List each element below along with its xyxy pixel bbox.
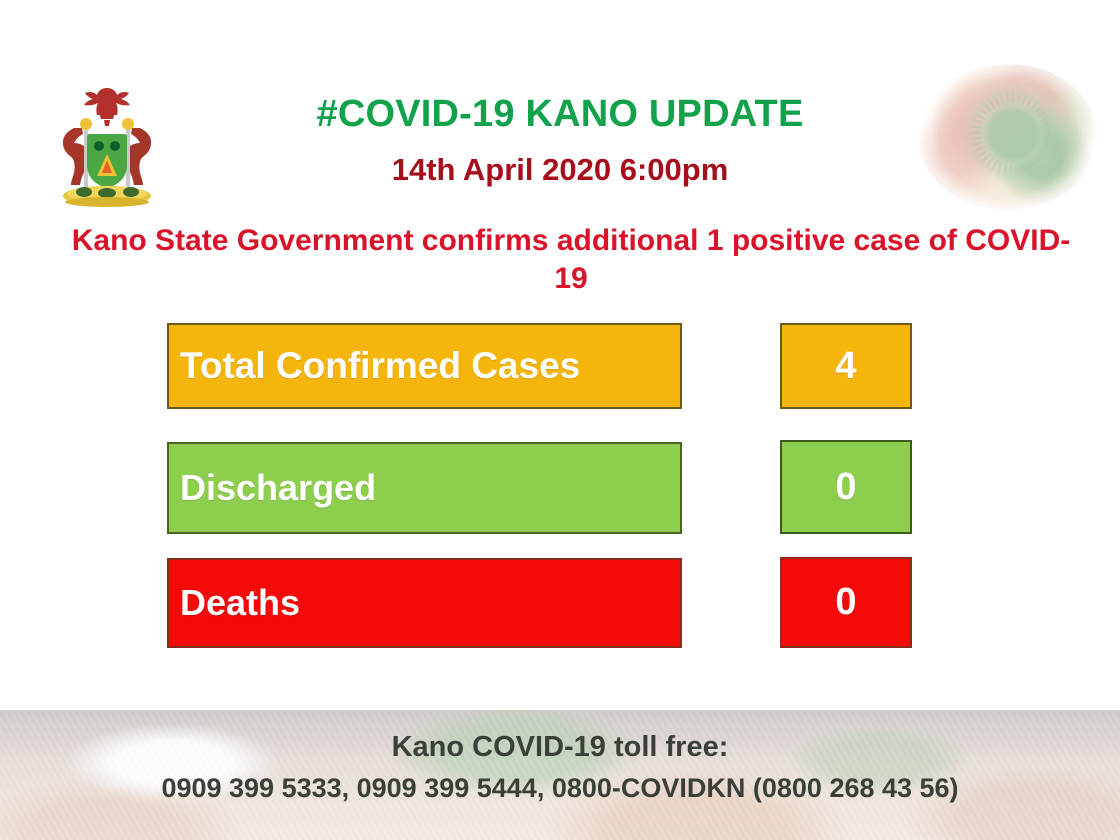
stat-row-discharged: Discharged 0: [0, 437, 1120, 527]
stat-value-discharged: 0: [835, 466, 856, 509]
stat-row-deaths: Deaths 0: [0, 554, 1120, 644]
stat-value-total-confirmed-cases: 4: [835, 345, 856, 388]
stat-row-total-confirmed-cases: Total Confirmed Cases 4: [0, 320, 1120, 410]
stat-value-box-discharged: 0: [780, 440, 912, 534]
page-title: #COVID-19 KANO UPDATE: [0, 93, 1120, 136]
announcement-text: Kano State Government confirms additiona…: [70, 222, 1072, 299]
footer-contact-block: Kano COVID-19 toll free: 0909 399 5333, …: [0, 732, 1120, 804]
coronavirus-micrograph-image: [918, 64, 1098, 210]
footer-title: Kano COVID-19 toll free:: [0, 732, 1120, 764]
stat-label-total-confirmed-cases: Total Confirmed Cases: [169, 345, 580, 387]
statistics-table: Total Confirmed Cases 4 Discharged 0 Dea…: [0, 320, 1120, 671]
stat-label-discharged: Discharged: [169, 467, 376, 509]
footer-banner: Kano COVID-19 toll free: 0909 399 5333, …: [0, 710, 1120, 840]
stat-label-deaths: Deaths: [169, 582, 300, 624]
footer-phone-numbers: 0909 399 5333, 0909 399 5444, 0800-COVID…: [0, 774, 1120, 804]
stat-label-bar-deaths: Deaths: [167, 558, 682, 648]
stat-value-box-total-confirmed-cases: 4: [780, 323, 912, 409]
update-datetime: 14th April 2020 6:00pm: [0, 152, 1120, 188]
stat-value-box-deaths: 0: [780, 557, 912, 648]
stat-value-deaths: 0: [835, 581, 856, 624]
stat-label-bar-total-confirmed-cases: Total Confirmed Cases: [167, 323, 682, 409]
covid-update-poster: #COVID-19 KANO UPDATE 14th April 2020 6:…: [0, 0, 1120, 840]
stat-label-bar-discharged: Discharged: [167, 442, 682, 534]
